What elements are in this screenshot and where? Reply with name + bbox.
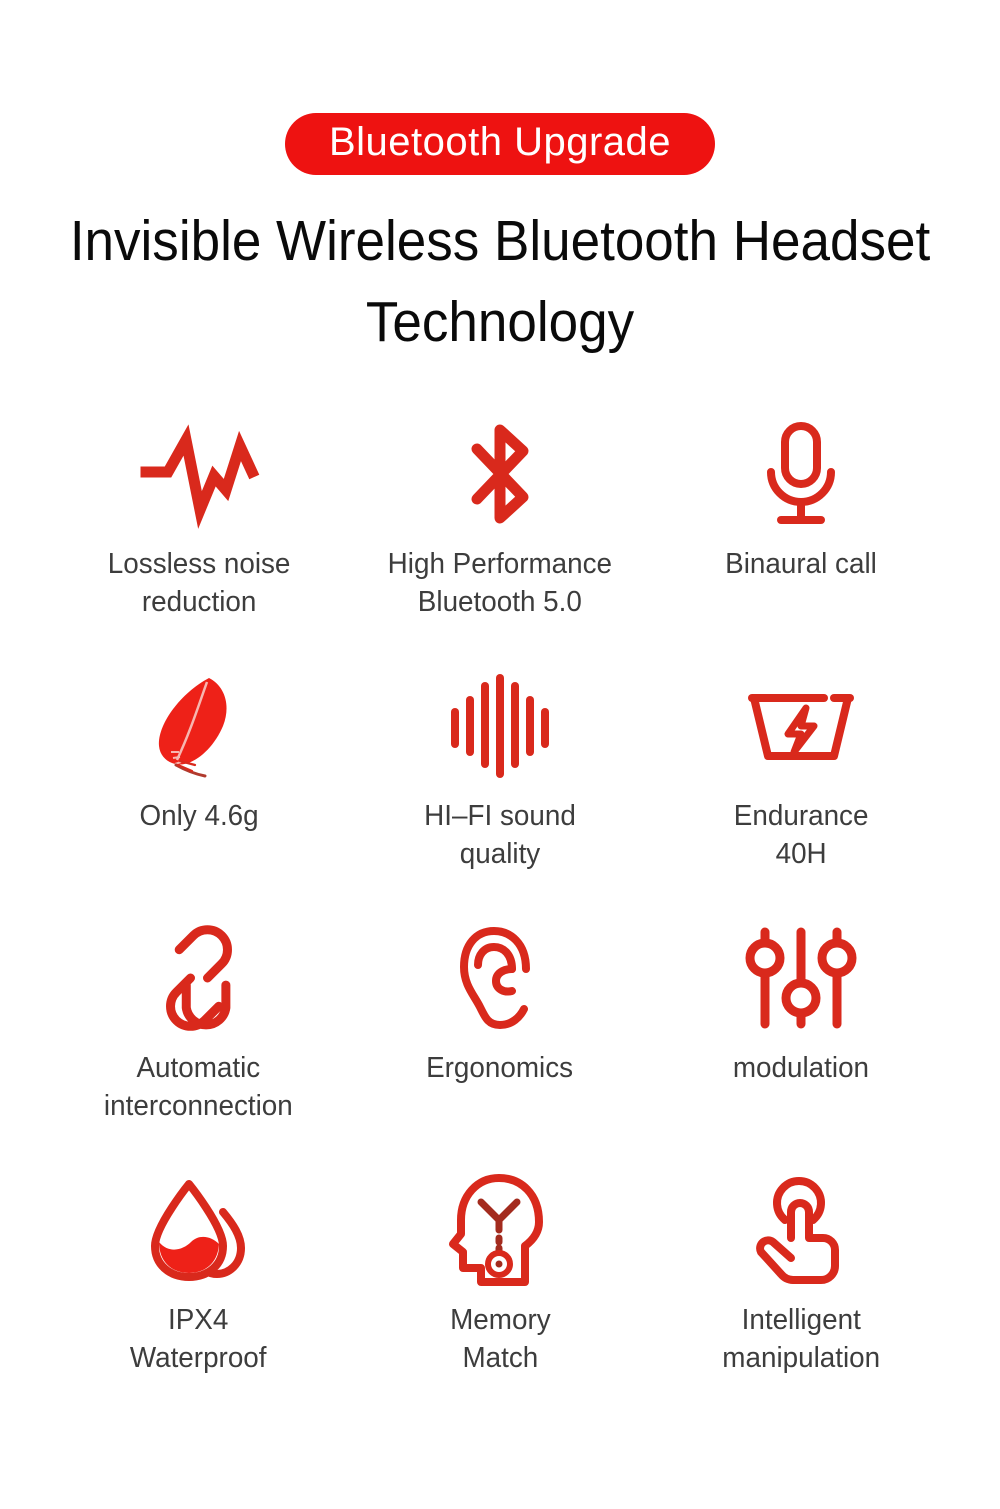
feature-cell: High Performance Bluetooth 5.0	[349, 415, 650, 667]
feature-label: Binaural call	[725, 545, 877, 583]
sound-bars-icon	[447, 667, 553, 785]
feature-cell: modulation	[651, 919, 952, 1171]
chain-link-icon	[147, 919, 251, 1037]
feature-label: Only 4.6g	[139, 797, 258, 835]
feature-label: Memory Match	[450, 1301, 551, 1378]
waveform-icon	[140, 415, 258, 533]
microphone-icon	[755, 415, 847, 533]
feature-cell: Memory Match	[349, 1171, 650, 1423]
feature-cell: Endurance 40H	[651, 667, 952, 919]
feature-label: modulation	[733, 1049, 869, 1087]
feature-grid: Lossless noise reduction High Performanc…	[0, 415, 1000, 1423]
feature-cell: HI–FI sound quality	[349, 667, 650, 919]
page-title: Invisible Wireless Bluetooth Headset Tec…	[35, 201, 965, 363]
head-memory-icon	[451, 1171, 549, 1289]
touch-hand-icon	[751, 1171, 851, 1289]
feature-cell: Automatic interconnection	[48, 919, 349, 1171]
feature-cell: Binaural call	[651, 415, 952, 667]
feature-label: High Performance Bluetooth 5.0	[388, 545, 612, 622]
feature-label: IPX4 Waterproof	[130, 1301, 267, 1378]
bluetooth-icon	[457, 415, 543, 533]
feather-icon	[147, 667, 251, 785]
ear-icon	[454, 919, 546, 1037]
feature-cell: Ergonomics	[349, 919, 650, 1171]
feature-cell: Lossless noise reduction	[48, 415, 349, 667]
water-drop-icon	[145, 1171, 253, 1289]
battery-charge-icon	[746, 667, 856, 785]
badge-row: Bluetooth Upgrade	[0, 0, 1000, 175]
feature-cell: Only 4.6g	[48, 667, 349, 919]
feature-label: Ergonomics	[426, 1049, 573, 1087]
feature-cell: IPX4 Waterproof	[48, 1171, 349, 1423]
feature-label: Intelligent manipulation	[722, 1301, 880, 1378]
sliders-icon	[747, 919, 855, 1037]
feature-label: Automatic interconnection	[104, 1049, 293, 1126]
feature-label: Endurance 40H	[734, 797, 869, 874]
feature-label: HI–FI sound quality	[424, 797, 576, 874]
feature-label: Lossless noise reduction	[107, 545, 290, 622]
feature-cell: Intelligent manipulation	[651, 1171, 952, 1423]
infographic-page: Bluetooth Upgrade Invisible Wireless Blu…	[0, 0, 1000, 1509]
bluetooth-upgrade-badge: Bluetooth Upgrade	[285, 113, 715, 175]
